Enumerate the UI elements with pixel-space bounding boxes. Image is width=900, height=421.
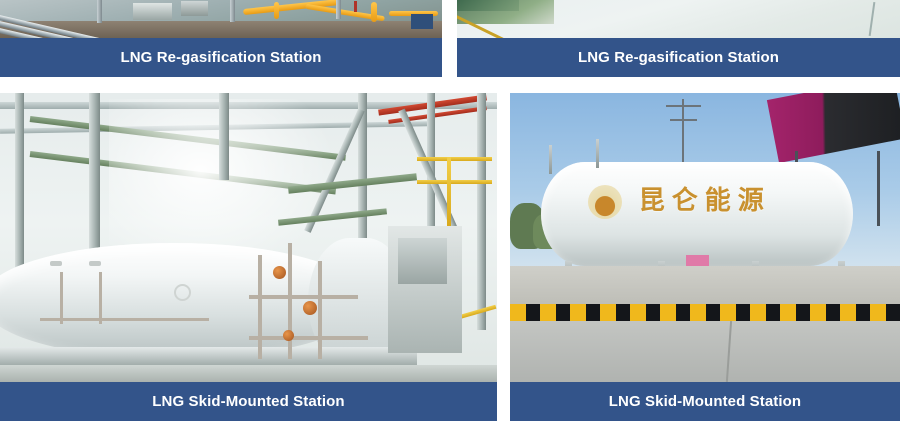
photo-lng-regasification-station-2[interactable] xyxy=(457,0,900,38)
photo-lng-skid-mounted-station-1[interactable] xyxy=(0,93,497,382)
photo-lng-skid-mounted-station-2[interactable]: 昆仑能源 xyxy=(510,93,900,382)
gallery-panel-bottom-left[interactable]: LNG Skid-Mounted Station xyxy=(0,93,497,421)
yellow-black-curb xyxy=(510,304,900,321)
caption-top-right: LNG Re-gasification Station xyxy=(457,38,900,77)
caption-top-left: LNG Re-gasification Station xyxy=(0,38,442,77)
lng-station-image-gallery: LNG Re-gasification Station LNG Re-gasif… xyxy=(0,0,900,421)
gallery-panel-bottom-right[interactable]: 昆仑能源 LNG Skid-Mounted Station xyxy=(510,93,900,421)
caption-bottom-left: LNG Skid-Mounted Station xyxy=(0,382,497,421)
gallery-panel-top-right[interactable]: LNG Re-gasification Station xyxy=(457,0,900,77)
tank-branding-text: 昆仑能源 xyxy=(639,180,771,217)
caption-bottom-right: LNG Skid-Mounted Station xyxy=(510,382,900,421)
gallery-panel-top-left[interactable]: LNG Re-gasification Station xyxy=(0,0,442,77)
photo-lng-regasification-station-1[interactable] xyxy=(0,0,442,38)
